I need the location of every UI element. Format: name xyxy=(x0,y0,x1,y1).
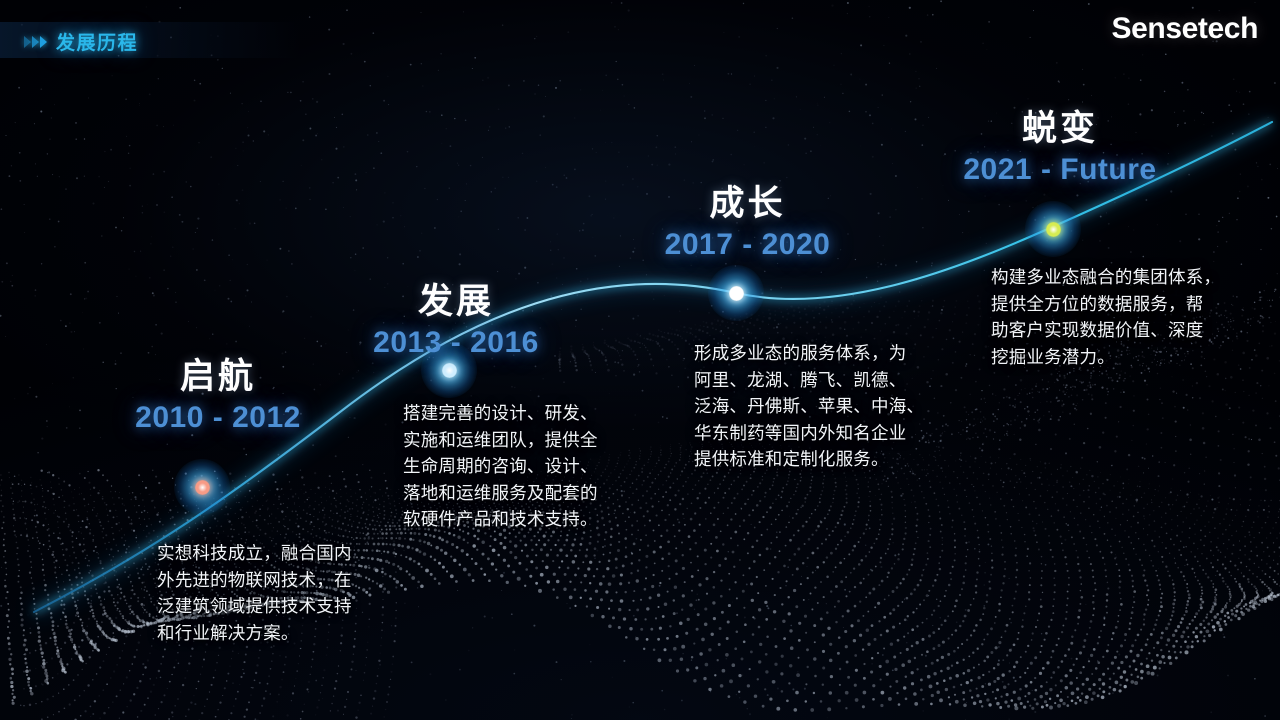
milestone-3-years: 2017 - 2020 xyxy=(640,226,855,264)
milestone-4-description: 构建多业态融合的集团体系， 提供全方位的数据服务，帮 助客户实现数据价值、深度 … xyxy=(991,264,1221,370)
milestone-4-title: 蜕变 xyxy=(955,110,1165,149)
slide-header: 发展历程 Sensetech xyxy=(0,0,1280,72)
milestone-1-node-core xyxy=(195,480,210,495)
milestone-1-years: 2010 - 2012 xyxy=(118,399,318,437)
milestone-4-heading: 蜕变 2021 - Future xyxy=(955,110,1165,188)
milestone-1-title: 启航 xyxy=(118,358,318,397)
slide-canvas: 发展历程 Sensetech 启航 2010 - 2012 实想科技成立，融合国… xyxy=(0,0,1280,720)
milestone-4-node-halo xyxy=(1025,201,1081,257)
milestone-1-node-halo xyxy=(174,459,230,515)
header-tag: 发展历程 xyxy=(24,28,138,55)
milestone-3-heading: 成长 2017 - 2020 xyxy=(640,185,855,263)
brand-logo: Sensetech xyxy=(1112,12,1258,46)
milestone-2-heading: 发展 2013 - 2016 xyxy=(356,283,556,361)
milestone-3-title: 成长 xyxy=(640,185,855,224)
milestone-1-heading: 启航 2010 - 2012 xyxy=(118,358,318,436)
milestone-2-node-core xyxy=(442,363,457,378)
milestone-4-node[interactable] xyxy=(1025,201,1081,257)
milestone-2-description: 搭建完善的设计、研发、 实施和运维团队，提供全 生命周期的咨询、设计、 落地和运… xyxy=(403,400,598,533)
milestone-1-node[interactable] xyxy=(174,459,230,515)
milestone-3-description: 形成多业态的服务体系，为 阿里、龙湖、腾飞、凯德、 泛海、丹佛斯、苹果、中海、 … xyxy=(694,340,924,473)
milestone-4-node-core xyxy=(1046,222,1061,237)
chevrons-right-icon xyxy=(24,36,47,48)
milestone-1-description: 实想科技成立，融合国内 外先进的物联网技术，在 泛建筑领域提供技术支持 和行业解… xyxy=(157,540,352,646)
milestone-3-node-halo xyxy=(708,265,764,321)
milestone-4-years: 2021 - Future xyxy=(955,151,1165,189)
milestone-2-years: 2013 - 2016 xyxy=(356,324,556,362)
milestone-3-node[interactable] xyxy=(708,265,764,321)
milestone-2-title: 发展 xyxy=(356,283,556,322)
section-title: 发展历程 xyxy=(56,28,138,55)
milestone-3-node-core xyxy=(729,286,744,301)
